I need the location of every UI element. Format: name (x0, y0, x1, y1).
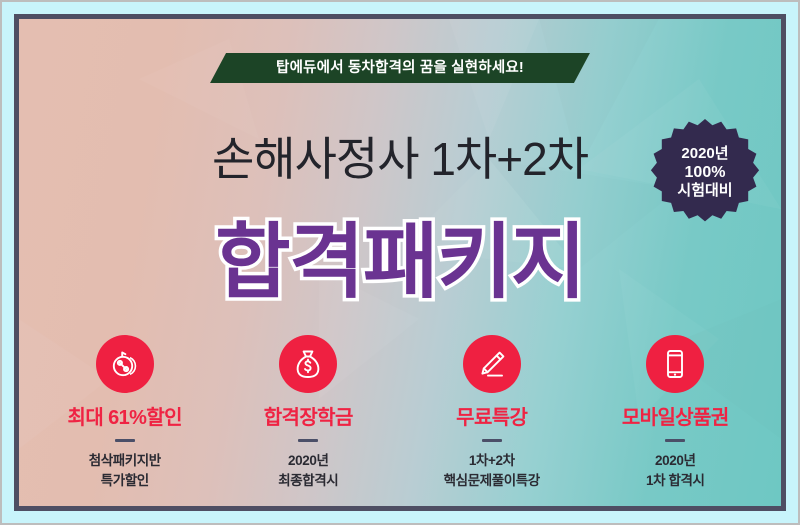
feature-subtitle-line2: 핵심문제풀이특강 (407, 471, 577, 491)
feature-list: 최대 61%할인 첨삭패키지반 특가할인 합격장학금 (19, 335, 781, 492)
ribbon-text: 탑에듀에서 동차합격의 꿈을 실현하세요! (210, 53, 590, 83)
feature-heading: 합격장학금 (223, 401, 393, 430)
feature-divider (482, 439, 502, 442)
feature-subtitle-line2: 1차 합격시 (590, 471, 760, 491)
pencil-icon (463, 335, 521, 393)
feature-subtitle: 첨삭패키지반 특가할인 (40, 451, 210, 492)
seal-badge: 2020년 100% 시험대비 (649, 117, 761, 229)
promo-banner-screen: 탑에듀에서 동차합격의 꿈을 실현하세요! 손해사정사 1차+2차 합격패키지 … (0, 0, 800, 525)
feature-heading: 최대 61%할인 (40, 401, 210, 430)
feature-item-scholarship[interactable]: 합격장학금 2020년 최종합격시 (223, 335, 393, 492)
seal-line-percent: 100% (681, 164, 730, 182)
feature-divider (665, 439, 685, 442)
feature-item-discount[interactable]: 최대 61%할인 첨삭패키지반 특가할인 (40, 335, 210, 492)
feature-item-free-lecture[interactable]: 무료특강 1차+2차 핵심문제풀이특강 (407, 335, 577, 492)
feature-item-mobile-voucher[interactable]: 모바일상품권 2020년 1차 합격시 (590, 335, 760, 492)
feature-subtitle-line2: 특가할인 (40, 471, 210, 491)
percent-coin-icon (96, 335, 154, 393)
ribbon-container: 탑에듀에서 동차합격의 꿈을 실현하세요! (19, 53, 781, 83)
feature-subtitle: 2020년 1차 합격시 (590, 451, 760, 492)
money-bag-icon (279, 335, 337, 393)
feature-subtitle-line1: 첨삭패키지반 (40, 451, 210, 471)
feature-heading: 모바일상품권 (590, 401, 760, 430)
feature-subtitle-line1: 1차+2차 (407, 451, 577, 471)
mobile-phone-icon (646, 335, 704, 393)
feature-subtitle-line1: 2020년 (223, 451, 393, 471)
seal-line-exam-prep: 시험대비 (677, 183, 732, 200)
feature-divider (298, 439, 318, 442)
feature-subtitle: 2020년 최종합격시 (223, 451, 393, 492)
feature-subtitle: 1차+2차 핵심문제풀이특강 (407, 451, 577, 492)
seal-text-block: 2020년 100% 시험대비 (649, 117, 761, 229)
feature-divider (115, 439, 135, 442)
banner-stage: 탑에듀에서 동차합격의 꿈을 실현하세요! 손해사정사 1차+2차 합격패키지 … (19, 19, 781, 506)
feature-heading: 무료특강 (407, 401, 577, 430)
feature-subtitle-line1: 2020년 (590, 451, 760, 471)
seal-line-year: 2020년 (681, 146, 728, 163)
feature-subtitle-line2: 최종합격시 (223, 471, 393, 491)
